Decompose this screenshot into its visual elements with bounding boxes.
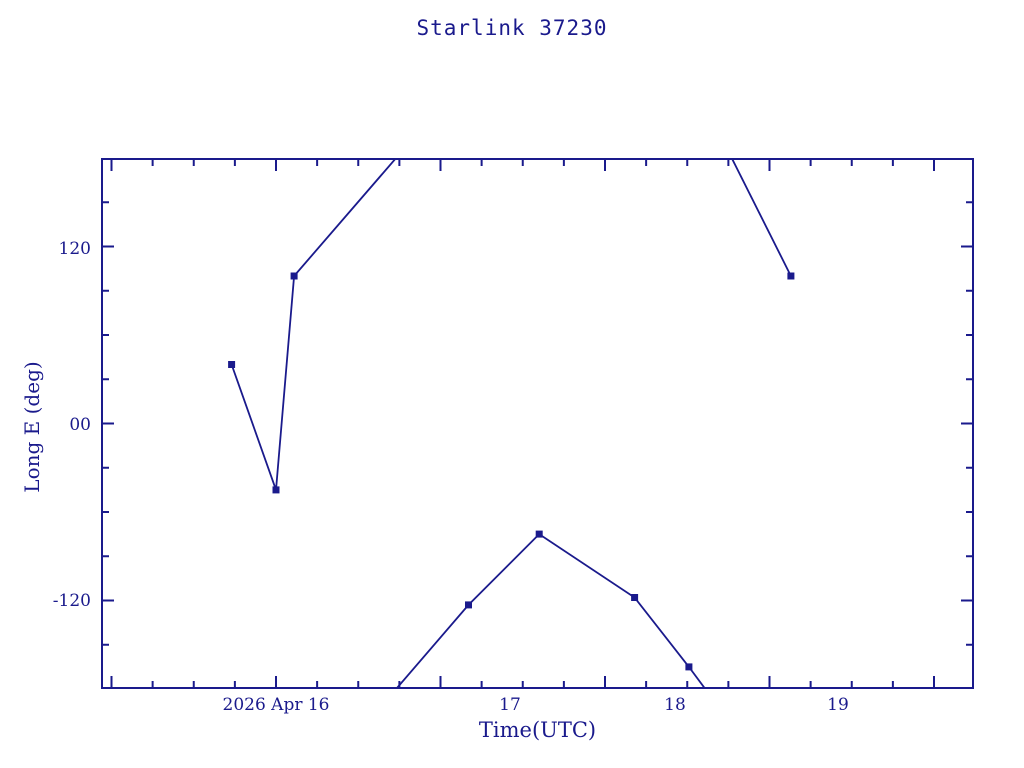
- x-tick-label-apr16: 2026 Apr 16: [223, 695, 330, 715]
- chart-root: Starlink 37230 Long E (deg) Time(UTC) 12…: [0, 0, 1024, 768]
- x-axis-title: Time(UTC): [101, 718, 974, 742]
- x-tick-label-17: 17: [499, 695, 521, 715]
- plot-frame: [101, 158, 974, 689]
- y-tick-label-00: 00: [21, 415, 91, 435]
- y-tick-label-minus120: -120: [21, 591, 91, 611]
- x-tick-label-18: 18: [664, 695, 686, 715]
- y-tick-label-120: 120: [21, 239, 91, 259]
- x-tick-label-19: 19: [827, 695, 849, 715]
- chart-title: Starlink 37230: [0, 16, 1024, 40]
